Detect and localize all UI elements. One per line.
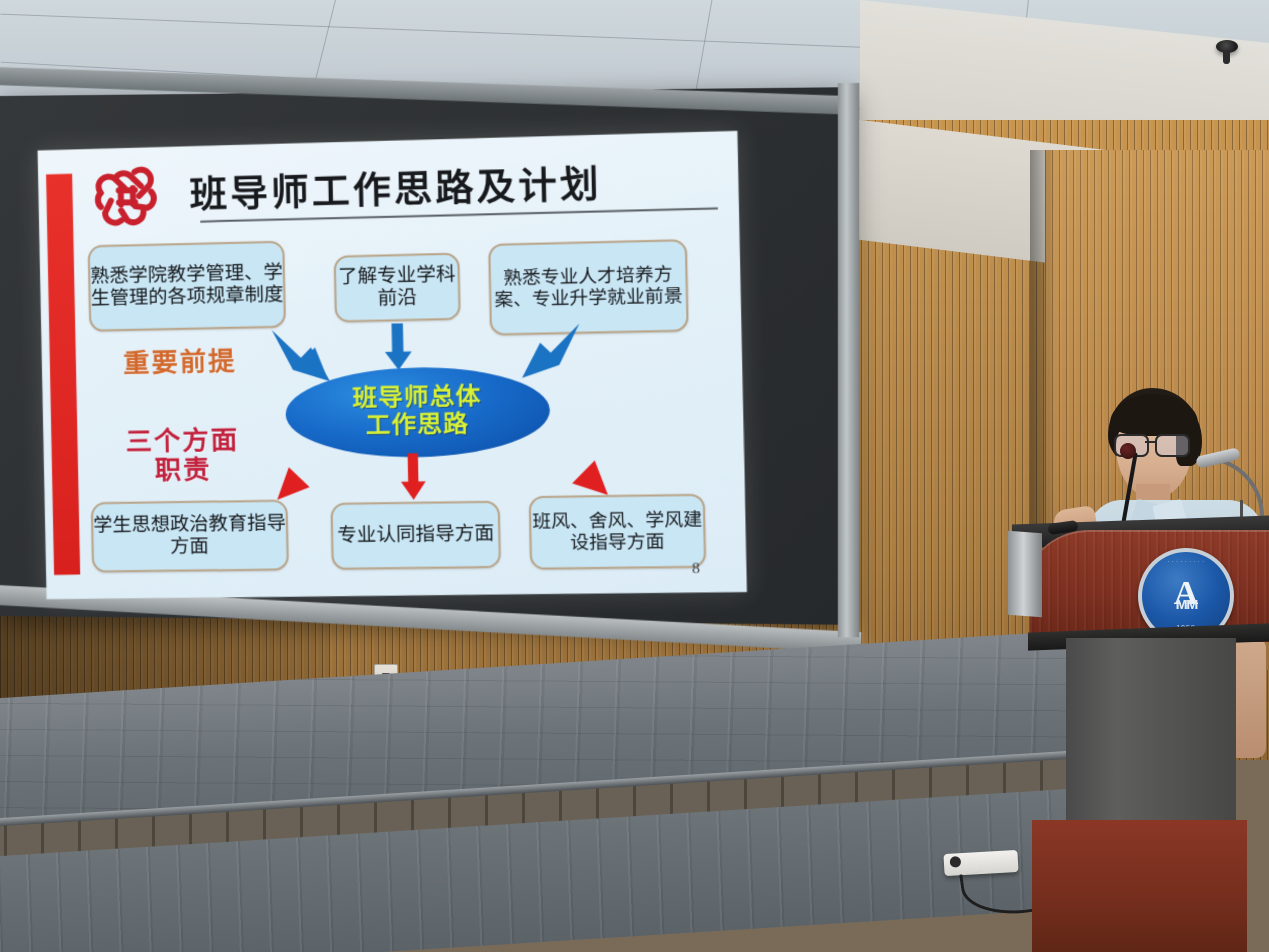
- slide-box-bottom-3: 班风、舍风、学风建设指导方面: [529, 494, 707, 570]
- podium-base-column: [1066, 638, 1236, 838]
- arrow-out-center-icon: [397, 453, 429, 504]
- podium-base-front: [1032, 820, 1247, 952]
- slide-box-top-2: 了解专业学科前沿: [334, 253, 461, 323]
- emblem-mountain-mark: ᴍᴍ: [1142, 594, 1230, 614]
- slide-label-duties: 三个方面职责: [93, 425, 272, 485]
- slide-page-number: 8: [692, 561, 700, 579]
- slide-label-premise: 重要前提: [94, 346, 267, 378]
- podium-side-metal-trim: [1008, 531, 1042, 617]
- slide-accent-bar: [46, 174, 80, 575]
- center-node-line2: 工作思路: [366, 410, 470, 439]
- slide-box-bottom-1: 学生思想政治教育指导方面: [91, 500, 289, 573]
- lecture-hall-scene: 班导师工作思路及计划 熟悉学院教学管理、学生管理的各项规章制度 了解专业学科前沿…: [0, 0, 1269, 952]
- slide-box-top-3: 熟悉专业人才培养方案、专业升学就业前景: [488, 239, 689, 336]
- presentation-slide: 班导师工作思路及计划 熟悉学院教学管理、学生管理的各项规章制度 了解专业学科前沿…: [38, 131, 747, 599]
- arrow-in-center-icon: [382, 323, 414, 374]
- glasses-lens-right: [1155, 434, 1190, 457]
- university-knot-logo-icon: [86, 161, 168, 231]
- microphone-head: [1120, 443, 1136, 459]
- ceiling-sensor-icon: [1216, 40, 1238, 53]
- screen-right-bar: [838, 83, 859, 637]
- slide-box-top-1: 熟悉学院教学管理、学生管理的各项规章制度: [88, 241, 286, 332]
- emblem-arc-text: · · · · · · · · ·: [1142, 559, 1230, 565]
- slide-box-bottom-2: 专业认同指导方面: [330, 501, 501, 570]
- center-node-line1: 班导师总体: [352, 383, 482, 413]
- podium: · · · · · · · · · A ᴍᴍ 1958: [1012, 520, 1269, 952]
- projection-screen: 班导师工作思路及计划 熟悉学院教学管理、学生管理的各项规章制度 了解专业学科前沿…: [0, 87, 853, 625]
